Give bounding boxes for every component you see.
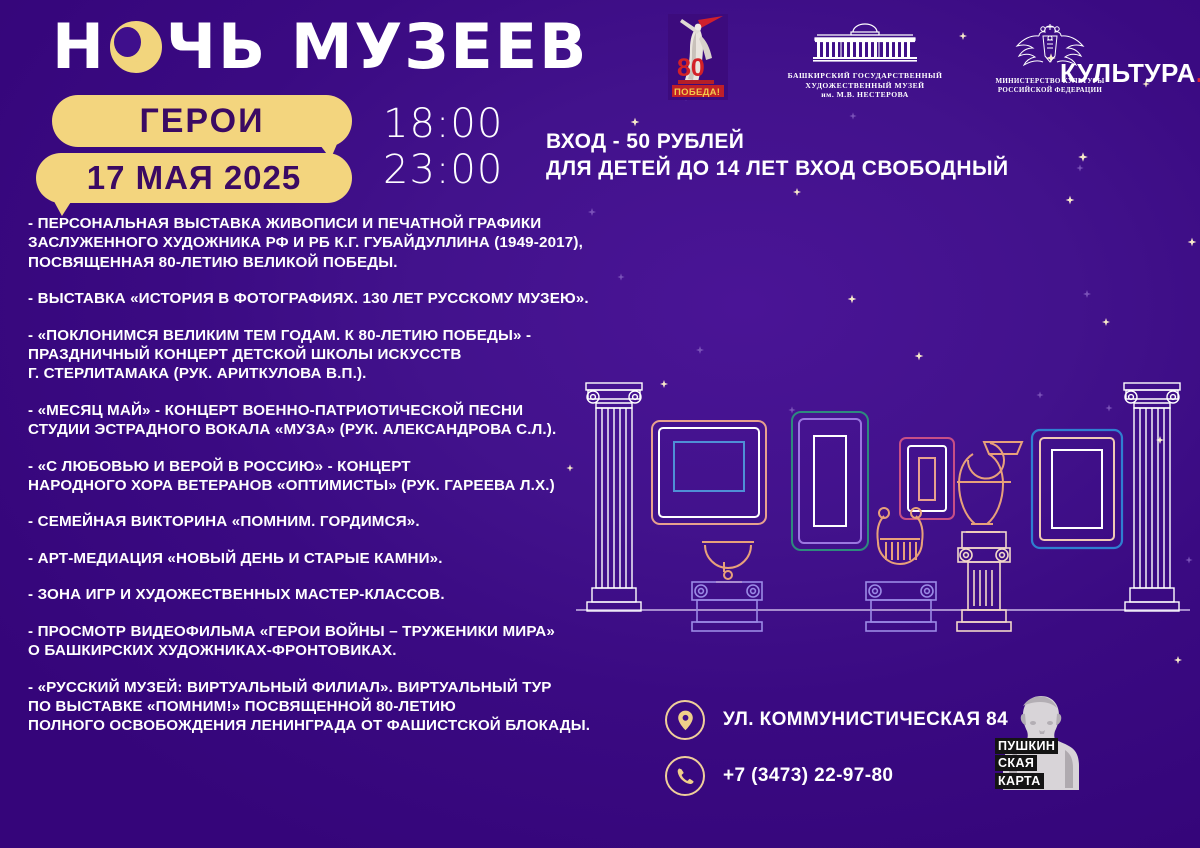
- theme-label: ГЕРОИ: [139, 102, 264, 141]
- time-start: 18:00: [383, 104, 503, 144]
- date-label: 17 МАЯ 2025: [87, 159, 302, 197]
- picture-frame-teal: [792, 412, 868, 550]
- pushkin-card-logo: ПУШКИН СКАЯ КАРТА: [995, 690, 1087, 790]
- time-end: 23:00: [383, 150, 503, 190]
- logo-text-part1: Н: [52, 16, 106, 78]
- picture-frame-salmon: [652, 421, 766, 524]
- entry-price: ВХОД - 50 РУБЛЕЙ: [546, 128, 1008, 155]
- amphora-vase-on-pedestal: [957, 442, 1022, 631]
- logo-text-part2: ЧЬ МУЗЕЕВ: [166, 16, 588, 78]
- address-text: УЛ. КОММУНИСТИЧЕСКАЯ 84: [723, 709, 1008, 731]
- kultura-name: КУЛЬТУРА: [1060, 58, 1196, 88]
- svg-text:80: 80: [677, 54, 705, 82]
- ionic-column-left: [586, 383, 642, 611]
- list-item: - «С ЛЮБОВЬЮ И ВЕРОЙ В РОССИЮ» - КОНЦЕРТ…: [28, 457, 628, 496]
- list-item: - ВЫСТАВКА «ИСТОРИЯ В ФОТОГРАФИЯХ. 130 Л…: [28, 289, 628, 308]
- date-badge: 17 МАЯ 2025: [36, 153, 352, 203]
- phone-handset-icon: [665, 756, 705, 796]
- museum-name-line1: БАШКИРСКИЙ ГОСУДАРСТВЕННЫЙ: [770, 71, 960, 81]
- phone-row: +7 (3473) 22-97-80: [665, 756, 1008, 796]
- kultura-domain: .РФ: [1196, 58, 1200, 88]
- list-item: - ПЕРСОНАЛЬНАЯ ВЫСТАВКА ЖИВОПИСИ И ПЕЧАТ…: [28, 214, 628, 272]
- picture-frame-blue: [1032, 430, 1122, 548]
- museum-name-line2: ХУДОЖЕСТВЕННЫЙ МУЗЕЙ: [770, 81, 960, 91]
- theme-badge: ГЕРОИ: [52, 95, 352, 147]
- bashkir-museum-logo: БАШКИРСКИЙ ГОСУДАРСТВЕННЫЙ ХУДОЖЕСТВЕННЫ…: [770, 20, 960, 100]
- entry-info: ВХОД - 50 РУБЛЕЙ ДЛЯ ДЕТЕЙ ДО 14 ЛЕТ ВХО…: [546, 128, 1008, 182]
- ionic-column-right: [1124, 383, 1180, 611]
- museum-gallery-illustration: [566, 370, 1200, 640]
- phone-text: +7 (3473) 22-97-80: [723, 765, 893, 787]
- list-item: - «МЕСЯЦ МАЙ» - КОНЦЕРТ ВОЕННО-ПАТРИОТИЧ…: [28, 401, 628, 440]
- location-pin-icon: [665, 700, 705, 740]
- gallery-line-art-svg: [566, 370, 1200, 640]
- picture-frame-pink: [900, 438, 954, 519]
- museum-building-icon: [813, 20, 917, 62]
- address-row: УЛ. КОММУНИСТИЧЕСКАЯ 84: [665, 700, 1008, 740]
- motherland-calls-statue-icon: 80 ПОБЕДА!: [668, 14, 728, 100]
- pushkin-card-line3: КАРТА: [995, 773, 1044, 789]
- list-item: - «РУССКИЙ МУЗЕЙ: ВИРТУАЛЬНЫЙ ФИЛИАЛ». В…: [28, 678, 628, 736]
- museum-name-line3: им. М.В. НЕСТЕРОВА: [770, 90, 960, 100]
- pushkin-card-line1: ПУШКИН: [995, 738, 1058, 754]
- pushkin-card-line2: СКАЯ: [995, 755, 1037, 771]
- list-item: - ЗОНА ИГР И ХУДОЖЕСТВЕННЫХ МАСТЕР-КЛАСС…: [28, 585, 628, 604]
- svg-text:ПОБЕДА!: ПОБЕДА!: [674, 87, 720, 98]
- chalice-on-pedestal: [692, 542, 762, 631]
- list-item: - СЕМЕЙНАЯ ВИКТОРИНА «ПОМНИМ. ГОРДИМСЯ».: [28, 512, 628, 531]
- pushkin-card-wordmark: ПУШКИН СКАЯ КАРТА: [995, 738, 1087, 791]
- lyre-on-pedestal: [866, 508, 936, 631]
- entry-free-children: ДЛЯ ДЕТЕЙ ДО 14 ЛЕТ ВХОД СВОБОДНЫЙ: [546, 155, 1008, 182]
- list-item: - АРТ-МЕДИАЦИЯ «НОВЫЙ ДЕНЬ И СТАРЫЕ КАМН…: [28, 549, 628, 568]
- event-times: 18:00 23:00: [383, 104, 503, 196]
- poster-root: Н ЧЬ МУЗЕЕВ ГЕРОИ 17 МАЯ 2025 18:00 23:0…: [0, 0, 1200, 848]
- list-item: - ПРОСМОТР ВИДЕОФИЛЬМА «ГЕРОИ ВОЙНЫ – ТР…: [28, 622, 628, 661]
- kultura-rf-logo: КУЛЬТУРА.РФ: [1060, 58, 1200, 89]
- contact-block: УЛ. КОММУНИСТИЧЕСКАЯ 84 +7 (3473) 22-97-…: [665, 700, 1008, 812]
- victory-80-logo: 80 ПОБЕДА!: [668, 14, 728, 100]
- list-item: - «ПОКЛОНИМСЯ ВЕЛИКИМ ТЕМ ГОДАМ. К 80-ЛЕ…: [28, 326, 628, 384]
- night-of-museums-logo: Н ЧЬ МУЗЕЕВ: [52, 16, 588, 78]
- crescent-moon-icon: [110, 21, 162, 73]
- events-list: - ПЕРСОНАЛЬНАЯ ВЫСТАВКА ЖИВОПИСИ И ПЕЧАТ…: [28, 214, 628, 753]
